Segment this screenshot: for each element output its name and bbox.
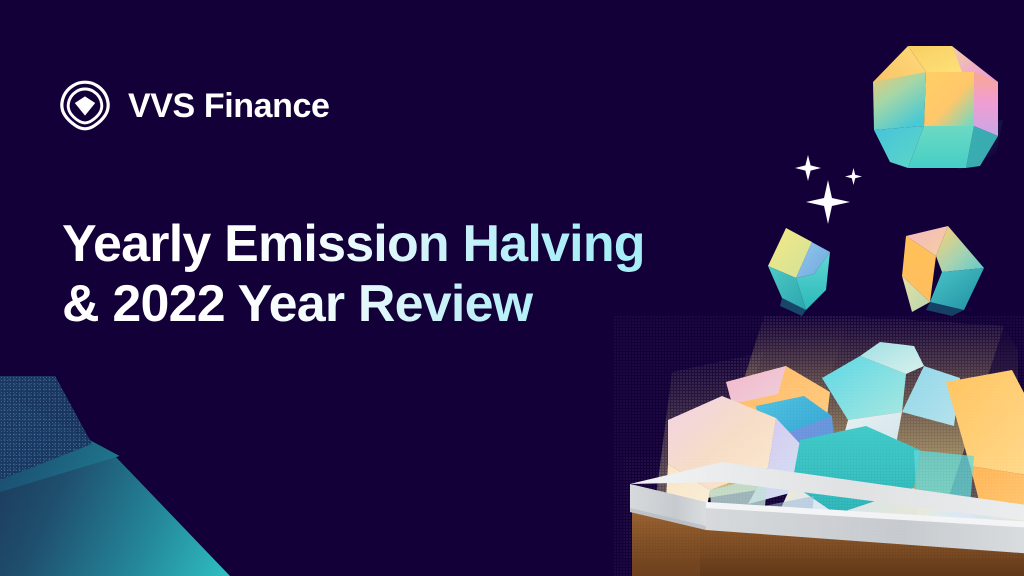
page-title: Yearly Emission Halving& 2022 Year Revie… [62,215,645,335]
corner-facet-large [0,376,230,576]
brand-name: VVS Finance [128,89,330,123]
diamond-gem-left-icon [752,216,848,316]
page-title-line-2: & 2022 Year Review [62,275,645,335]
corner-grain-texture [0,376,230,576]
sparkle-star-medium-icon [795,155,821,181]
brand-logo[interactable]: VVS Finance [58,79,330,133]
corner-facet-speckled [0,376,230,576]
slide-canvas: VVS Finance Yearly Emission Halving& 202… [0,0,1024,576]
chest-body [624,456,1024,576]
page-title-line-1: Yearly Emission Halving [62,215,645,273]
octagon-gem-icon [856,28,1024,183]
vvs-gem-logo-icon [58,79,112,133]
diamond-gem-right-icon [890,214,1002,326]
corner-facet-mid [0,376,230,576]
bottom-left-gem-corner [0,376,230,576]
treasure-chest [614,316,1024,576]
